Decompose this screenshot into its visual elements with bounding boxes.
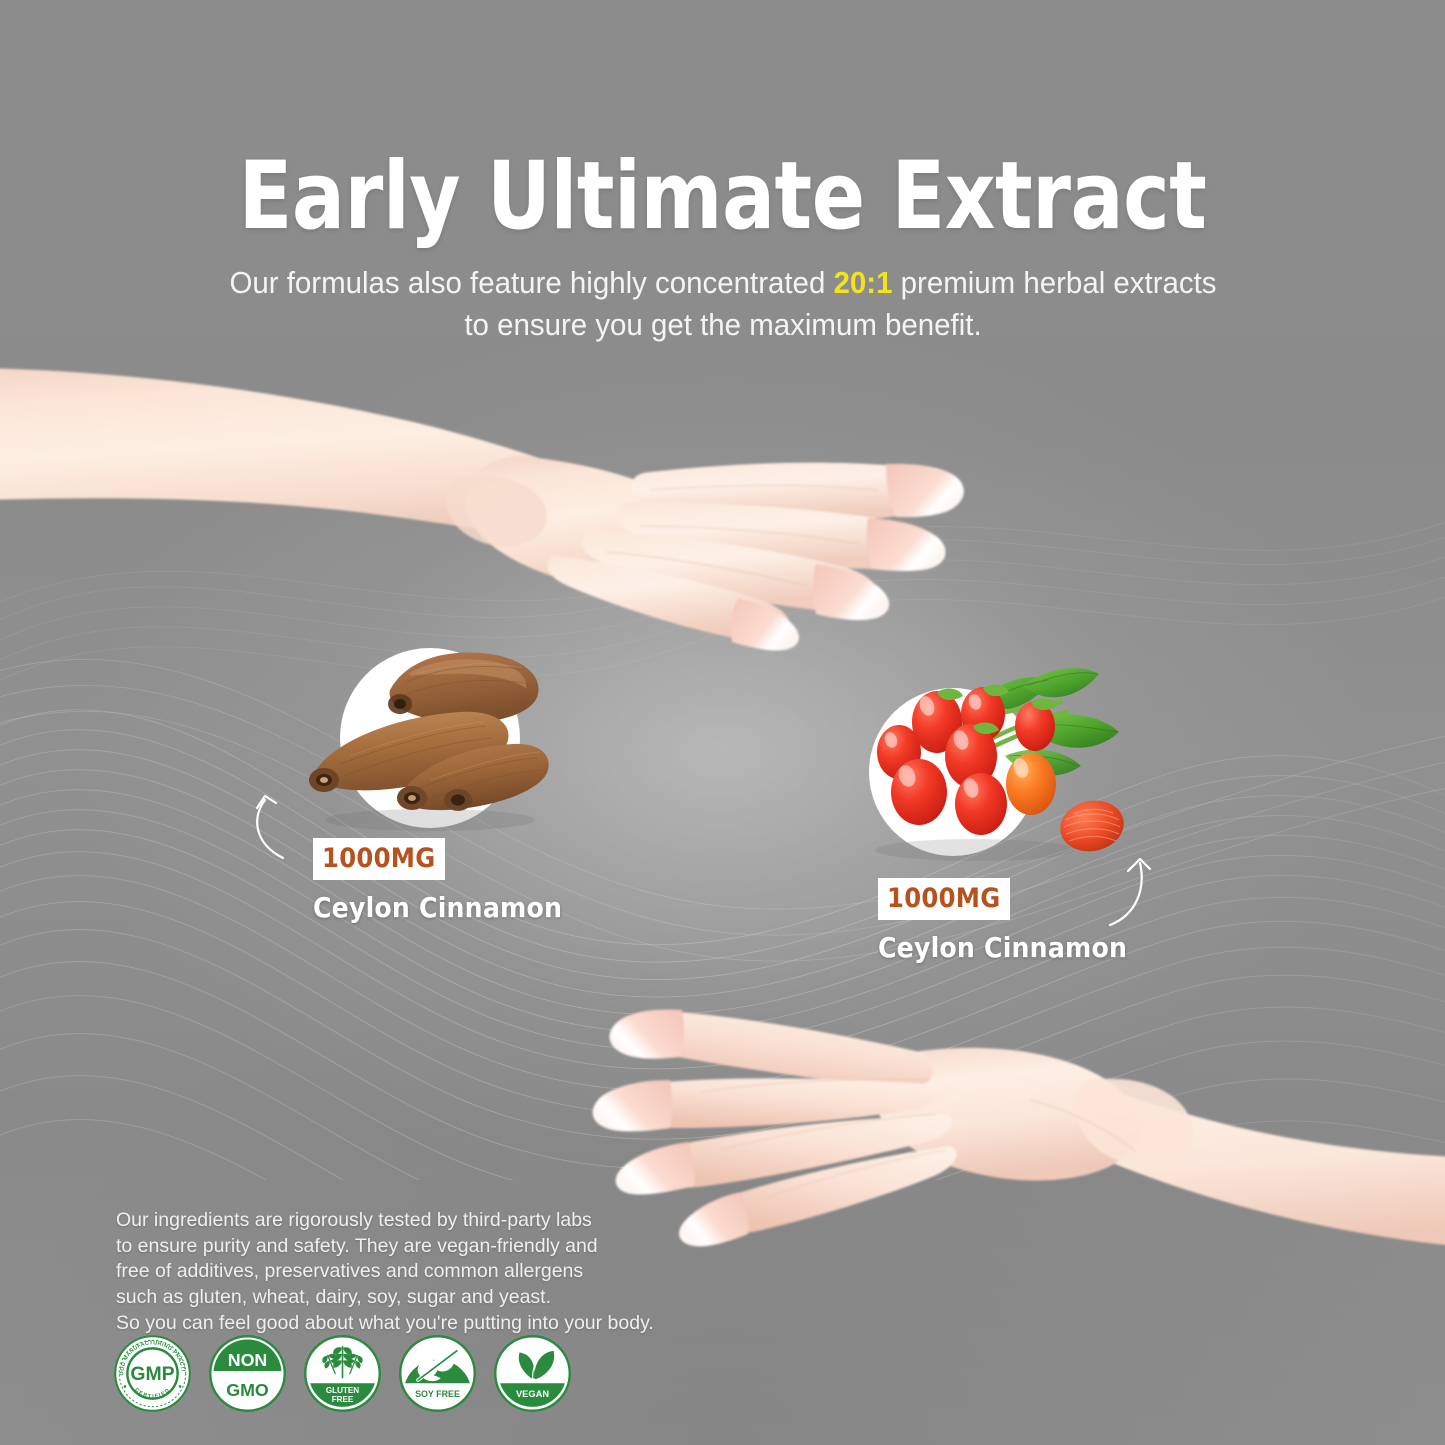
- background-wave-decoration: [0, 620, 1445, 1180]
- disclaimer-text: Our ingredients are rigorously tested by…: [116, 1208, 636, 1337]
- disclaimer-line-3: free of additives, preservatives and com…: [116, 1259, 636, 1285]
- cinnamon-sticks-graphic: [280, 630, 580, 835]
- non-gmo-bottom-text: GMO: [226, 1380, 269, 1400]
- ingredient-name: Ceylon Cinnamon: [878, 931, 1127, 964]
- dosage-badge: 1000MG: [878, 878, 1010, 920]
- cinnamon-ingredient-photo: [280, 630, 580, 835]
- gluten-free-line1: GLUTEN: [326, 1386, 359, 1395]
- gluten-free-line2: FREE: [332, 1395, 354, 1404]
- dosage-badge: 1000MG: [313, 838, 445, 880]
- badge-vegan-icon: VEGAN: [492, 1333, 573, 1414]
- badge-soy-free-icon: SOY FREE: [397, 1333, 478, 1414]
- subtitle-text-part1: Our formulas also feature highly concent…: [229, 265, 833, 300]
- subtitle-highlight-ratio: 20:1: [833, 265, 892, 300]
- ingredient-name: Ceylon Cinnamon: [313, 891, 562, 924]
- badge-gmp-certified-icon: GOOD MANUFACTURING PRACTICE CERTIFIED GM…: [112, 1333, 193, 1414]
- badge-gluten-free-icon: GLUTEN FREE: [302, 1333, 383, 1414]
- vegan-text: VEGAN: [516, 1389, 549, 1399]
- ingredient-label-goji: 1000MG Ceylon Cinnamon: [878, 878, 1127, 964]
- page-title: Early Ultimate Extract: [51, 150, 1395, 244]
- subtitle-line2: to ensure you get the maximum benefit.: [464, 307, 981, 342]
- product-infographic: Early Ultimate Extract Our formulas also…: [0, 0, 1445, 1445]
- goji-berry-ingredient-photo: [855, 660, 1145, 870]
- disclaimer-line-1: Our ingredients are rigorously tested by…: [116, 1208, 636, 1234]
- hand-top-illustration: [0, 360, 1020, 660]
- soy-free-text: SOY FREE: [415, 1389, 460, 1399]
- certification-badges: GOOD MANUFACTURING PRACTICE CERTIFIED GM…: [112, 1333, 573, 1414]
- disclaimer-line-4: such as gluten, wheat, dairy, soy, sugar…: [116, 1285, 636, 1311]
- background-wave-decoration-upper: [0, 330, 1445, 750]
- goji-berries-graphic: [855, 660, 1145, 870]
- header: Early Ultimate Extract Our formulas also…: [0, 0, 1445, 346]
- subtitle-text-part2: premium herbal extracts: [892, 265, 1216, 300]
- badge-non-gmo-icon: NON GMO: [207, 1333, 288, 1414]
- ingredient-label-cinnamon: 1000MG Ceylon Cinnamon: [313, 838, 562, 924]
- subtitle: Our formulas also feature highly concent…: [191, 262, 1255, 346]
- gmp-main-text: GMP: [130, 1363, 174, 1385]
- non-gmo-top-text: NON: [228, 1350, 268, 1370]
- disclaimer-line-2: to ensure purity and safety. They are ve…: [116, 1234, 636, 1260]
